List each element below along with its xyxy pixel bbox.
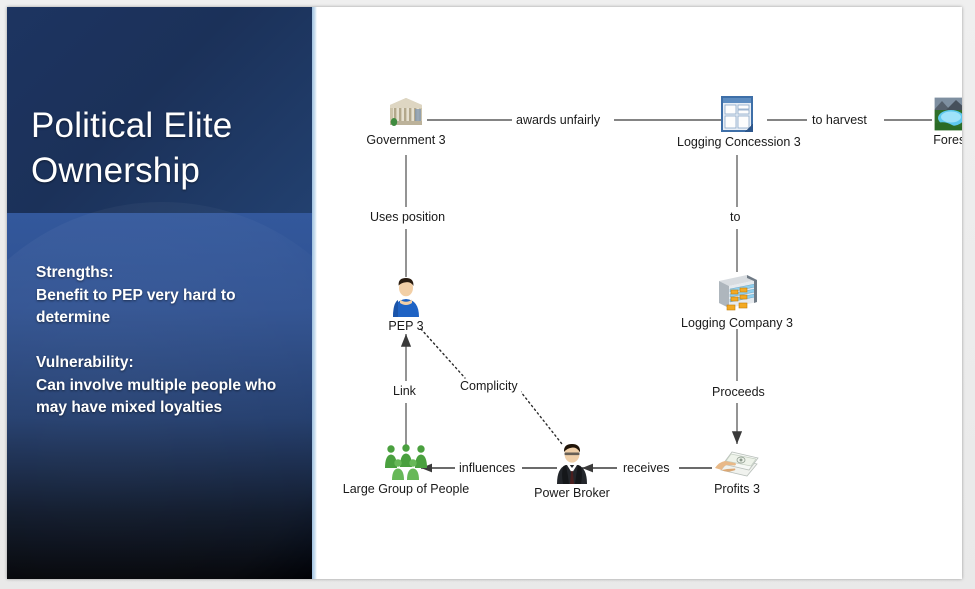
edge-label-to: to bbox=[727, 210, 743, 224]
vulnerability-text: Vulnerability: Can involve multiple peop… bbox=[36, 352, 304, 420]
node-label-government: Government 3 bbox=[346, 133, 466, 147]
node-logging-company[interactable]: Logging Company 3 bbox=[677, 272, 797, 330]
hand-with-money-icon bbox=[713, 444, 761, 480]
edge-label-complicity: Complicity bbox=[457, 379, 521, 393]
strengths-text: Strengths: Benefit to PEP very hard to d… bbox=[36, 262, 304, 330]
node-profits[interactable]: Profits 3 bbox=[677, 444, 797, 496]
government-building-icon bbox=[386, 95, 426, 131]
node-label-logging-concession: Logging Concession 3 bbox=[677, 135, 797, 149]
node-large-group[interactable]: Large Group of People bbox=[336, 444, 476, 496]
businessman-suit-icon bbox=[555, 442, 589, 484]
person-blue-shirt-icon bbox=[391, 277, 421, 317]
edge-complicity-line bbox=[421, 329, 465, 378]
edge-label-link: Link bbox=[390, 384, 419, 398]
node-power-broker[interactable]: Power Broker bbox=[512, 442, 632, 500]
node-label-pep: PEP 3 bbox=[346, 319, 466, 333]
node-label-forest: Forest bbox=[905, 133, 962, 147]
forest-landscape-icon bbox=[934, 97, 962, 131]
node-pep[interactable]: PEP 3 bbox=[346, 277, 466, 333]
edge-label-uses-position: Uses position bbox=[367, 210, 448, 224]
diagram-canvas: awards unfairly to harvest Uses position… bbox=[317, 7, 962, 579]
server-stack-icon bbox=[713, 272, 761, 314]
edge-label-proceeds: Proceeds bbox=[709, 385, 768, 399]
document-form-icon bbox=[720, 95, 754, 133]
slide-title-panel: Political Elite Ownership Strengths: Ben… bbox=[7, 7, 312, 579]
node-label-power-broker: Power Broker bbox=[512, 486, 632, 500]
node-label-profits: Profits 3 bbox=[677, 482, 797, 496]
node-label-large-group: Large Group of People bbox=[336, 482, 476, 496]
node-label-logging-company: Logging Company 3 bbox=[677, 316, 797, 330]
group-of-people-icon bbox=[382, 444, 430, 480]
node-government[interactable]: Government 3 bbox=[346, 95, 466, 147]
app-background: Political Elite Ownership Strengths: Ben… bbox=[0, 0, 975, 589]
presentation-slide: Political Elite Ownership Strengths: Ben… bbox=[7, 7, 962, 579]
edge-label-awards-unfairly: awards unfairly bbox=[513, 113, 603, 127]
page-title: Political Elite Ownership bbox=[31, 103, 299, 193]
edge-complicity-line-2 bbox=[517, 387, 562, 444]
edge-label-to-harvest: to harvest bbox=[809, 113, 870, 127]
node-logging-concession[interactable]: Logging Concession 3 bbox=[677, 95, 797, 149]
node-forest[interactable]: Forest bbox=[905, 97, 962, 147]
